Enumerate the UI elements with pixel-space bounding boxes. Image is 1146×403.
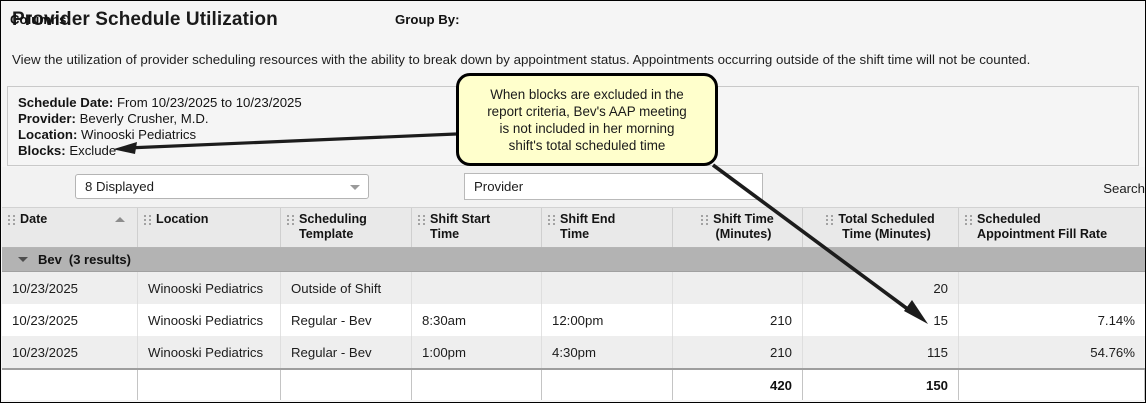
cell-scheduling-template: Regular - Bev — [281, 304, 412, 336]
criteria-provider-label: Provider: — [18, 111, 76, 126]
table-row[interactable]: 10/23/2025 Winooski Pediatrics Regular -… — [2, 304, 1145, 336]
cell-shift-time: 210 — [673, 336, 803, 368]
column-header-scheduling-template[interactable]: Scheduling Template — [281, 208, 412, 247]
group-label: Bev — [38, 252, 62, 267]
drag-handle-icon[interactable] — [8, 215, 16, 227]
cell-shift-end-time: 4:30pm — [542, 336, 673, 368]
cell-date: 10/23/2025 — [2, 336, 138, 368]
cell-shift-end-time: 12:00pm — [542, 304, 673, 336]
cell-scheduling-template: Regular - Bev — [281, 336, 412, 368]
cell-shift-start-time: 1:00pm — [412, 336, 542, 368]
table-totals-row: 420 150 — [2, 368, 1145, 400]
cell-scheduling-template: Outside of Shift — [281, 272, 412, 304]
criteria-schedule-date-value: From 10/23/2025 to 10/23/2025 — [117, 95, 302, 110]
column-header-label: Shift Time (Minutes) — [713, 212, 774, 241]
criteria-location-label: Location: — [18, 127, 77, 142]
cell-fill-rate — [959, 272, 1145, 304]
criteria-provider: Provider: Beverly Crusher, M.D. — [18, 111, 209, 126]
column-header-label: Total Scheduled Time (Minutes) — [838, 212, 934, 241]
caret-down-icon[interactable] — [18, 257, 28, 262]
cell-location: Winooski Pediatrics — [138, 336, 281, 368]
group-by-input[interactable]: Provider — [464, 173, 763, 200]
column-header-label: Scheduled Appointment Fill Rate — [977, 212, 1107, 241]
page-description: View the utilization of provider schedul… — [12, 52, 1030, 67]
cell-shift-time: 210 — [673, 304, 803, 336]
total-cell-shift-end-time — [542, 370, 673, 400]
total-cell-shift-start-time — [412, 370, 542, 400]
column-header-label: Shift End Time — [560, 212, 615, 241]
cell-location: Winooski Pediatrics — [138, 272, 281, 304]
column-header-shift-end-time[interactable]: Shift End Time — [542, 208, 673, 247]
cell-location: Winooski Pediatrics — [138, 304, 281, 336]
cell-shift-start-time: 8:30am — [412, 304, 542, 336]
total-cell-date — [2, 370, 138, 400]
sort-ascending-icon[interactable] — [115, 217, 125, 222]
column-header-scheduled-appointment-fill-rate[interactable]: Scheduled Appointment Fill Rate — [959, 208, 1145, 247]
column-header-label: Shift Start Time — [430, 212, 490, 241]
total-cell-fill-rate — [959, 370, 1145, 400]
column-header-location[interactable]: Location — [138, 208, 281, 247]
annotation-callout: When blocks are excluded in the report c… — [456, 73, 718, 166]
criteria-location: Location: Winooski Pediatrics — [18, 127, 196, 142]
cell-fill-rate: 54.76% — [959, 336, 1145, 368]
column-header-date[interactable]: Date — [2, 208, 138, 247]
column-header-total-scheduled-time-minutes[interactable]: Total Scheduled Time (Minutes) — [803, 208, 959, 247]
provider-schedule-utilization-screen: Provider Schedule Utilization View the u… — [0, 0, 1146, 403]
group-by-value: Provider — [474, 179, 523, 194]
column-header-shift-time-minutes[interactable]: Shift Time (Minutes) — [673, 208, 803, 247]
column-header-label: Location — [156, 212, 208, 227]
cell-total-scheduled-time: 115 — [803, 336, 959, 368]
criteria-location-value: Winooski Pediatrics — [81, 127, 196, 142]
search-label[interactable]: Search — [1103, 181, 1145, 196]
cell-total-scheduled-time: 15 — [803, 304, 959, 336]
columns-select-value: 8 Displayed — [85, 179, 154, 194]
cell-shift-end-time — [542, 272, 673, 304]
columns-select[interactable]: 8 Displayed — [75, 174, 369, 199]
criteria-schedule-date-label: Schedule Date: — [18, 95, 113, 110]
cell-shift-start-time — [412, 272, 542, 304]
table-row[interactable]: 10/23/2025 Winooski Pediatrics Regular -… — [2, 336, 1145, 368]
group-row-bev[interactable]: Bev (3 results) — [2, 248, 1145, 272]
utilization-table: Date Location Scheduling Template Shift … — [2, 208, 1145, 400]
drag-handle-icon[interactable] — [826, 215, 834, 227]
drag-handle-icon[interactable] — [144, 215, 152, 227]
table-header-row: Date Location Scheduling Template Shift … — [2, 208, 1145, 248]
criteria-schedule-date: Schedule Date: From 10/23/2025 to 10/23/… — [18, 95, 302, 110]
annotation-callout-text: When blocks are excluded in the report c… — [479, 86, 695, 154]
total-cell-scheduling-template — [281, 370, 412, 400]
criteria-blocks-value: Exclude — [69, 143, 116, 158]
cell-date: 10/23/2025 — [2, 304, 138, 336]
total-cell-total-scheduled-time: 150 — [803, 370, 959, 400]
cell-date: 10/23/2025 — [2, 272, 138, 304]
drag-handle-icon[interactable] — [701, 215, 709, 227]
columns-label: Columns: — [10, 12, 71, 27]
column-header-shift-start-time[interactable]: Shift Start Time — [412, 208, 542, 247]
table-row[interactable]: 10/23/2025 Winooski Pediatrics Outside o… — [2, 272, 1145, 304]
drag-handle-icon[interactable] — [418, 215, 426, 227]
column-header-label: Scheduling Template — [299, 212, 367, 241]
criteria-blocks-label: Blocks: — [18, 143, 66, 158]
total-cell-location — [138, 370, 281, 400]
criteria-blocks: Blocks: Exclude — [18, 143, 116, 158]
drag-handle-icon[interactable] — [287, 215, 295, 227]
column-header-label: Date — [20, 212, 47, 227]
total-cell-shift-time: 420 — [673, 370, 803, 400]
criteria-provider-value: Beverly Crusher, M.D. — [80, 111, 209, 126]
group-by-label: Group By: — [395, 12, 459, 27]
cell-shift-time — [673, 272, 803, 304]
drag-handle-icon[interactable] — [965, 215, 973, 227]
drag-handle-icon[interactable] — [548, 215, 556, 227]
group-result-count: (3 results) — [69, 252, 131, 267]
cell-total-scheduled-time: 20 — [803, 272, 959, 304]
cell-fill-rate: 7.14% — [959, 304, 1145, 336]
chevron-down-icon — [350, 185, 360, 190]
